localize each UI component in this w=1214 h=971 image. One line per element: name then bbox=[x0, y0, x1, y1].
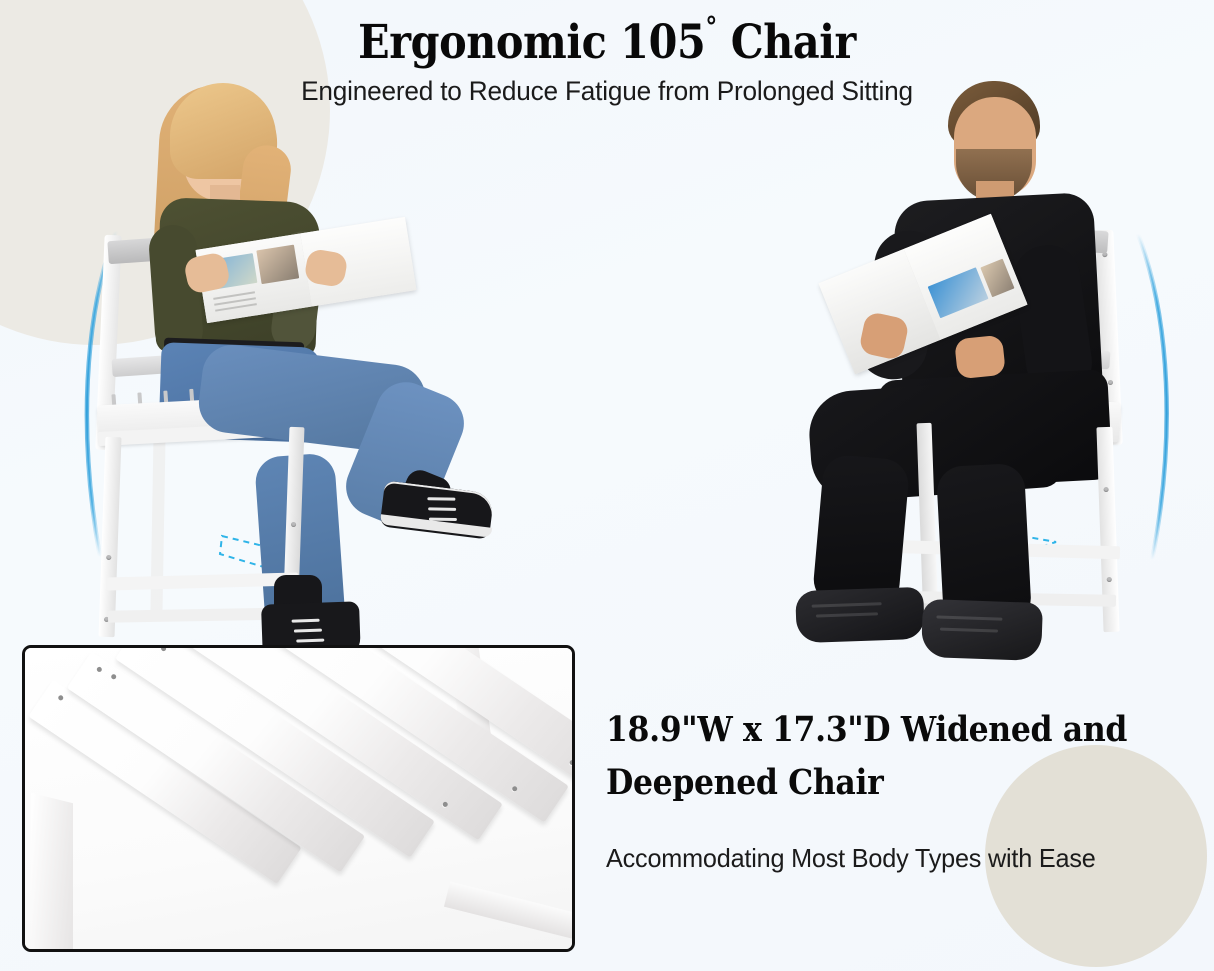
title-text-after-degree: Chair bbox=[717, 15, 856, 70]
degree-symbol-icon: ° bbox=[705, 12, 716, 43]
dimensions-headline: 18.9"W x 17.3"D Widened and Deepened Cha… bbox=[606, 703, 1146, 809]
title-text-before-degree: Ergonomic 105 bbox=[358, 15, 705, 70]
photo-woman-seated bbox=[60, 55, 530, 635]
dimensions-caption: Accommodating Most Body Types with Ease bbox=[606, 843, 1188, 874]
chair-leg-front-left bbox=[99, 437, 122, 637]
dimensions-headline-line2: Deepened Chair bbox=[606, 756, 1146, 809]
page-subtitle: Engineered to Reduce Fatigue from Prolon… bbox=[18, 76, 1196, 107]
closeup-chair-leg bbox=[31, 793, 73, 952]
dimensions-headline-line1: 18.9"W x 17.3"D Widened and bbox=[606, 703, 1146, 756]
man-left-sneaker bbox=[795, 587, 925, 643]
headline-group: Ergonomic 105° Chair Engineered to Reduc… bbox=[0, 18, 1214, 107]
product-feature-graphic: Ergonomic 105° Chair Engineered to Reduc… bbox=[0, 0, 1214, 971]
page-title: Ergonomic 105° Chair bbox=[73, 18, 1141, 67]
man-right-hand bbox=[954, 335, 1006, 380]
photo-man-seated bbox=[770, 45, 1214, 645]
lower-text-group: 18.9"W x 17.3"D Widened and Deepened Cha… bbox=[606, 703, 1206, 874]
inset-closeup-photo bbox=[22, 645, 575, 952]
man-right-sneaker bbox=[921, 599, 1043, 661]
